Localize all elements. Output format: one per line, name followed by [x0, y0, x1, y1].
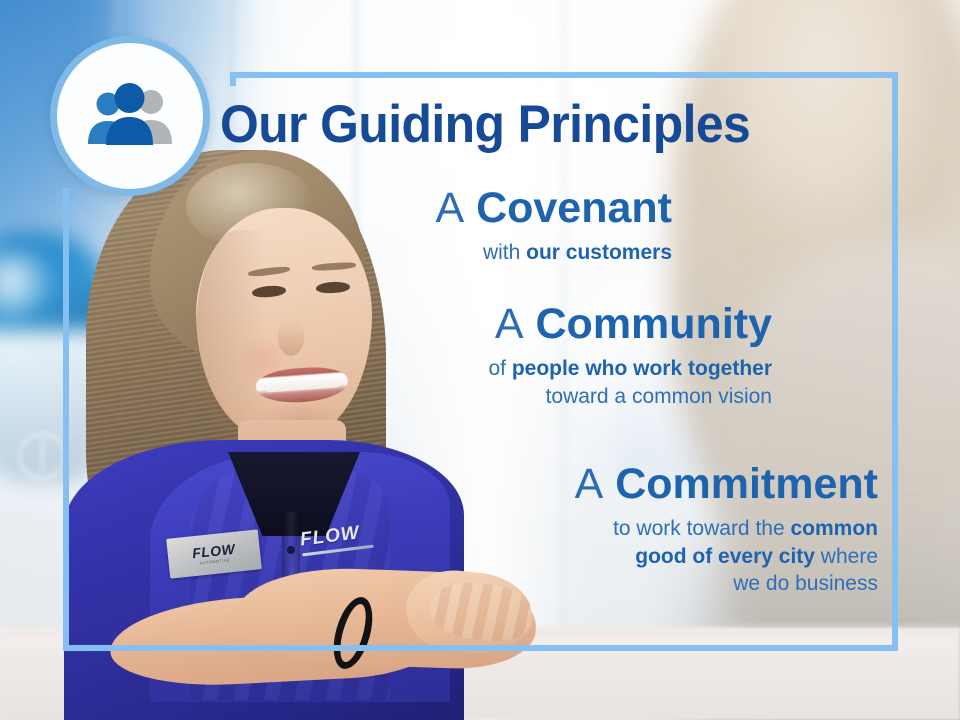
principle-article: A [495, 300, 524, 348]
principle-block-covenant: A Covenant with our customers [300, 186, 672, 267]
principle-block-community: A Community of people who work togethert… [300, 302, 772, 410]
principle-block-commitment: A Commitment to work toward the commongo… [350, 462, 878, 597]
principle-lead: A Commitment [350, 462, 878, 506]
principle-keyword: Community [536, 300, 773, 348]
principle-lead: A Covenant [300, 186, 672, 230]
text-content: Our Guiding Principles A Covenant with o… [0, 0, 960, 720]
principle-keyword: Covenant [476, 184, 672, 232]
principle-article: A [435, 184, 464, 232]
principle-lead: A Community [300, 302, 772, 346]
principle-keyword: Commitment [615, 460, 878, 508]
guiding-principles-graphic: FLOW AUTOMOTIVE FLOW [0, 0, 960, 720]
principle-subtext: of people who work togethertoward a comm… [300, 355, 772, 410]
principle-subtext: to work toward the commongood of every c… [350, 515, 878, 597]
principle-article: A [575, 460, 604, 508]
principle-subtext: with our customers [300, 239, 672, 266]
page-title: Our Guiding Principles [220, 98, 840, 151]
